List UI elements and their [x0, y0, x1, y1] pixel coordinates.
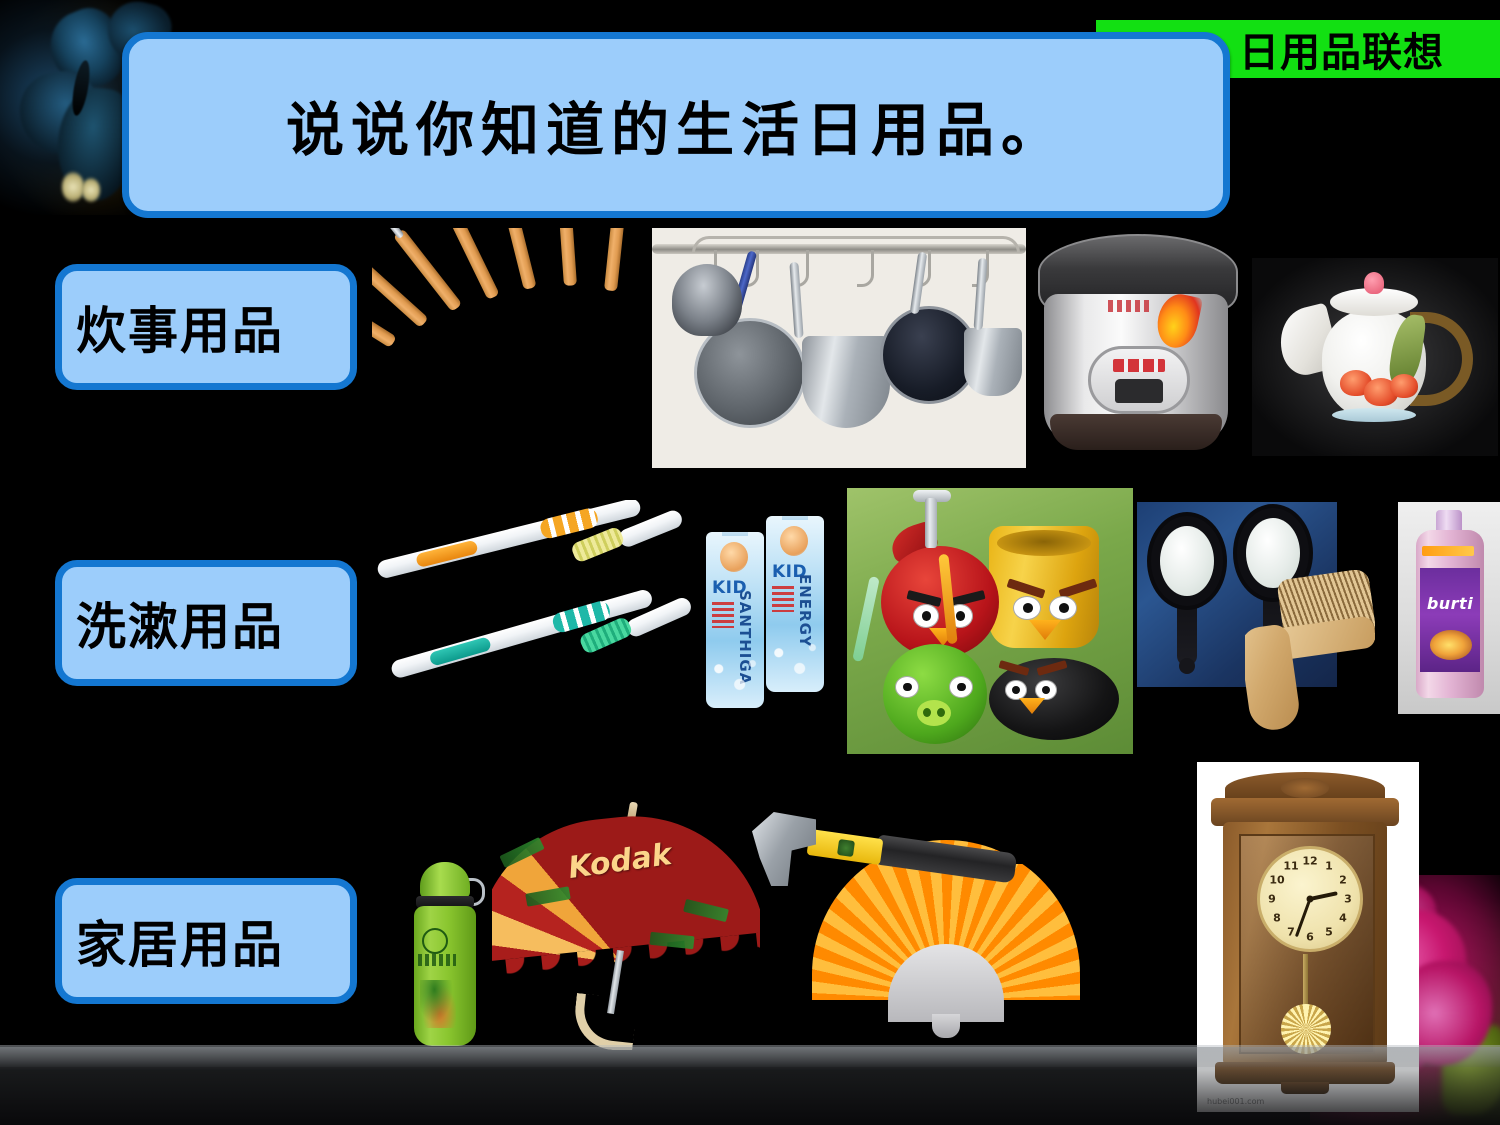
page-title-text: 说说你知道的生活日用品。	[286, 83, 1066, 167]
category-label-cooking[interactable]: 炊事用品	[55, 264, 357, 390]
clock-face: 12 1 2 3 4 5 6 7 8 9 10 11	[1257, 846, 1363, 952]
photo-kitchen-utensil-set	[372, 228, 648, 468]
clock-hour-hand	[1310, 891, 1338, 901]
category-label-washing[interactable]: 洗漱用品	[55, 560, 357, 686]
header-banner-text: 日用品联想	[1239, 20, 1444, 78]
photo-claw-hammer	[752, 812, 1052, 924]
bottom-reflection-strip	[0, 1047, 1500, 1125]
photo-angry-birds-bathroom-set	[847, 488, 1133, 754]
page-title: 说说你知道的生活日用品。	[122, 32, 1230, 218]
clock-numeral: 11	[1283, 860, 1298, 873]
clock-numeral: 4	[1339, 912, 1347, 925]
category-label-household-text: 家居用品	[76, 905, 284, 977]
clock-numeral: 9	[1268, 893, 1276, 906]
clock-numeral: 12	[1302, 855, 1317, 868]
clock-numeral: 1	[1325, 860, 1333, 873]
clock-center-pin	[1307, 896, 1314, 903]
photo-hanging-pots-and-pans	[652, 228, 1026, 468]
category-label-washing-text: 洗漱用品	[76, 587, 284, 659]
clock-numeral: 8	[1273, 912, 1281, 925]
clock-numeral: 6	[1306, 931, 1314, 944]
clock-numeral: 5	[1325, 926, 1333, 939]
photo-water-bottle	[398, 862, 492, 1048]
category-label-cooking-text: 炊事用品	[76, 291, 284, 363]
clock-numeral: 2	[1339, 874, 1347, 887]
photo-shampoo-bottle: burti	[1398, 502, 1500, 714]
clock-numeral: 3	[1344, 893, 1352, 906]
photo-wooden-comb	[1245, 570, 1375, 730]
photo-toothpaste-tubes: KID SANTHIGA KID ENERGY	[700, 512, 842, 710]
clock-numeral: 10	[1269, 874, 1284, 887]
photo-umbrella: Kodak	[470, 800, 760, 1050]
photo-ceramic-teapot	[1252, 258, 1498, 456]
photo-rice-cooker	[1030, 228, 1250, 468]
clock-numeral: 7	[1287, 926, 1295, 939]
category-label-household[interactable]: 家居用品	[55, 878, 357, 1004]
shampoo-brand-text: burti	[1420, 594, 1480, 613]
slide-canvas: 日用品联想	[0, 0, 1500, 1125]
photo-toothbrushes	[372, 500, 722, 750]
